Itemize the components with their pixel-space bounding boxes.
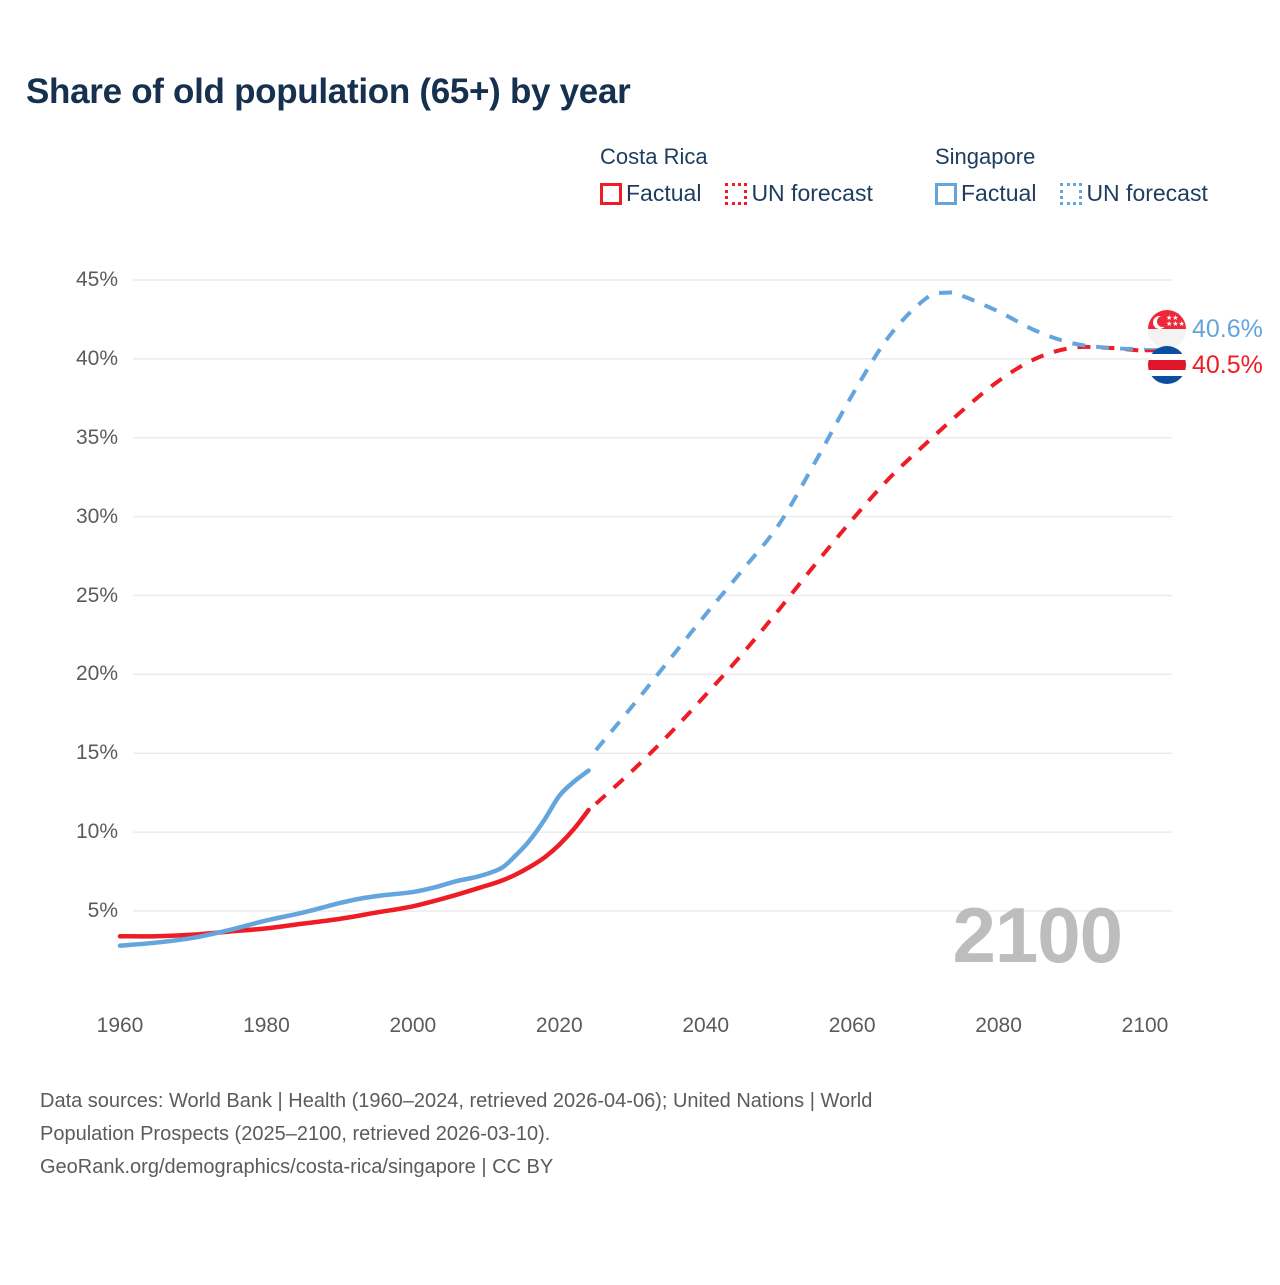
footer-line-2: Population Prospects (2025–2100, retriev… [40, 1118, 1180, 1151]
legend-swatch-dotted-icon [725, 183, 747, 205]
x-axis-tick-label: 1960 [97, 1014, 144, 1038]
legend-swatch-solid-icon [600, 183, 622, 205]
x-axis-tick-label: 2020 [536, 1014, 583, 1038]
end-label-singapore: ★★★★★ 40.6% [1148, 310, 1263, 348]
x-axis-tick-label: 2000 [389, 1014, 436, 1038]
chart-page: Share of old population (65+) by year Co… [0, 0, 1280, 1280]
x-axis-tick-label: 2040 [682, 1014, 729, 1038]
legend-item-singapore-forecast[interactable]: UN forecast [1060, 180, 1207, 207]
end-label-costa-rica: 40.5% [1148, 346, 1263, 384]
footer-line-1: Data sources: World Bank | Health (1960–… [40, 1085, 1180, 1118]
end-value-costa-rica: 40.5% [1192, 351, 1263, 380]
legend-group-costa-rica: Costa Rica Factual UN forecast [600, 144, 935, 207]
legend-item-costa-rica-factual[interactable]: Factual [600, 180, 701, 207]
y-axis-tick-label: 35% [28, 426, 118, 450]
series-line-costa-rica-forecast [596, 347, 1145, 804]
x-axis-tick-label: 2100 [1122, 1014, 1169, 1038]
x-axis-tick-label: 2060 [829, 1014, 876, 1038]
footer-line-3: GeoRank.org/demographics/costa-rica/sing… [40, 1151, 1180, 1184]
legend-swatch-dotted-icon [1060, 183, 1082, 205]
y-axis-tick-label: 10% [28, 820, 118, 844]
legend-label-singapore-forecast: UN forecast [1086, 180, 1207, 207]
legend-label-costa-rica-factual: Factual [626, 180, 701, 207]
y-axis-tick-label: 30% [28, 505, 118, 529]
legend-group-singapore: Singapore Factual UN forecast [935, 144, 1208, 207]
y-axis-tick-label: 15% [28, 741, 118, 765]
y-axis-tick-label: 25% [28, 584, 118, 608]
footer-sources: Data sources: World Bank | Health (1960–… [40, 1085, 1180, 1184]
y-axis-tick-label: 45% [28, 268, 118, 292]
singapore-flag-icon: ★★★★★ [1148, 310, 1186, 348]
y-axis-tick-label: 40% [28, 347, 118, 371]
legend-label-costa-rica-forecast: UN forecast [751, 180, 872, 207]
y-axis-tick-label: 5% [28, 899, 118, 923]
page-title: Share of old population (65+) by year [26, 72, 630, 112]
series-line-costa-rica-factual [120, 810, 589, 936]
legend-group-title-singapore: Singapore [935, 144, 1208, 170]
x-axis-tick-label: 2080 [975, 1014, 1022, 1038]
legend-label-singapore-factual: Factual [961, 180, 1036, 207]
chart-legend: Costa Rica Factual UN forecast Singapore… [600, 144, 1208, 207]
y-axis-tick-label: 20% [28, 662, 118, 686]
legend-swatch-solid-icon [935, 183, 957, 205]
x-axis-tick-label: 1980 [243, 1014, 290, 1038]
legend-item-singapore-factual[interactable]: Factual [935, 180, 1036, 207]
costa-rica-flag-icon [1148, 346, 1186, 384]
legend-item-costa-rica-forecast[interactable]: UN forecast [725, 180, 872, 207]
legend-group-title-costa-rica: Costa Rica [600, 144, 935, 170]
series-line-singapore-factual [120, 771, 589, 946]
end-value-singapore: 40.6% [1192, 315, 1263, 344]
year-watermark: 2100 [952, 890, 1122, 981]
series-line-singapore-forecast [596, 292, 1145, 750]
